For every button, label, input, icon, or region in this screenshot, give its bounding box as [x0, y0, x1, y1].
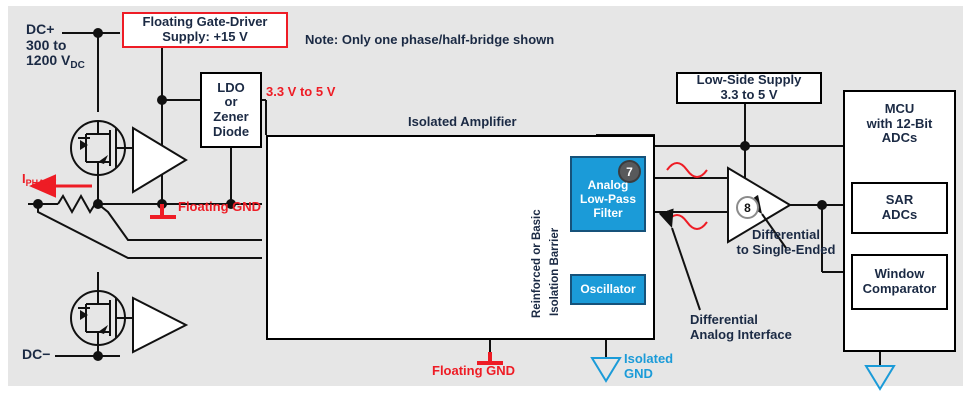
ldo-line3: Zener	[213, 110, 248, 125]
window-comparator-line2: Comparator	[863, 282, 937, 297]
low-side-supply-line1: Low-Side Supply	[697, 73, 802, 88]
i-phase-label: IPHASE	[22, 172, 57, 187]
igbt-low-symbol	[55, 272, 133, 356]
isolated-gnd-label: Isolated GND	[624, 352, 673, 381]
isolation-barrier-label-line2: Isolation Barrier	[549, 228, 561, 316]
dc-plus-label: DC+ 300 to 1200 VDC	[26, 22, 85, 69]
sine-wave-icon-bottom	[667, 215, 707, 229]
low-side-supply-box[interactable]: Low-Side Supply 3.3 to 5 V	[676, 72, 822, 104]
floating-ground-icon-bottom	[477, 352, 503, 363]
mcu-line2: with 12-Bit	[867, 117, 933, 132]
oscillator-label: Oscillator	[580, 283, 635, 297]
sine-wave-icon-top	[667, 163, 707, 177]
gate-driver-supply-line1: Floating Gate-Driver	[143, 15, 268, 30]
window-comparator-line1: Window	[875, 267, 925, 282]
rail-33-to-5v-label: 3.3 V to 5 V	[266, 85, 335, 100]
sar-adcs-line1: SAR	[886, 193, 913, 208]
lpf-line3: Filter	[593, 207, 622, 221]
step-badge-8: 8	[736, 196, 759, 219]
gate-driver-high-symbol	[133, 128, 186, 192]
differential-analog-interface-label: Differential Analog Interface	[690, 313, 792, 342]
ldo-line4: Diode	[213, 125, 249, 140]
floating-ground-icon-top	[150, 204, 176, 217]
isolation-barrier-label-line1: Reinforced or Basic	[531, 209, 543, 318]
delta-sigma-modulator-label: ΔΣ Modulator	[424, 226, 502, 257]
gain-aa-filter-label: Gain & AA Filter	[336, 237, 406, 268]
dc-minus-label: DC−	[22, 347, 50, 363]
window-comparator-box[interactable]: Window Comparator	[851, 254, 948, 310]
lpf-line2: Low-Pass	[580, 193, 636, 207]
ldo-line2: or	[225, 95, 238, 110]
floating-gnd-bottom-label: Floating GND	[432, 364, 515, 379]
isolated-ground-icon	[592, 358, 620, 381]
callout-arrow-icon	[672, 228, 700, 310]
diff-to-single-ended-label: Differential to Single-Ended	[736, 228, 836, 257]
sar-adcs-line2: ADCs	[882, 208, 917, 223]
isolated-amplifier-title: Isolated Amplifier	[408, 115, 517, 130]
oscillator-box[interactable]: Oscillator	[570, 274, 646, 305]
gate-driver-supply-line2: Supply: +15 V	[162, 30, 248, 45]
gate-driver-low-symbol	[133, 298, 186, 352]
igbt-high-symbol	[71, 121, 133, 204]
ldo-zener-box[interactable]: LDO or Zener Diode	[200, 72, 262, 148]
ldo-line1: LDO	[217, 81, 244, 96]
mcu-line1: MCU	[885, 102, 915, 117]
note-label: Note: Only one phase/half-bridge shown	[305, 33, 554, 48]
mcu-line3: ADCs	[882, 131, 917, 146]
step-badge-7: 7	[618, 160, 641, 183]
sar-adcs-box[interactable]: SAR ADCs	[851, 182, 948, 234]
floating-gnd-top-label: Floating GND	[178, 200, 261, 215]
low-side-supply-line2: 3.3 to 5 V	[720, 88, 777, 103]
diagram-root: DC+ 300 to 1200 VDC IPHASE DC− Floating …	[0, 0, 971, 408]
lpf-line1: Analog	[588, 179, 629, 193]
isolated-ground-icon-mcu	[866, 366, 894, 389]
floating-gate-driver-supply-box[interactable]: Floating Gate-Driver Supply: +15 V	[122, 12, 288, 48]
